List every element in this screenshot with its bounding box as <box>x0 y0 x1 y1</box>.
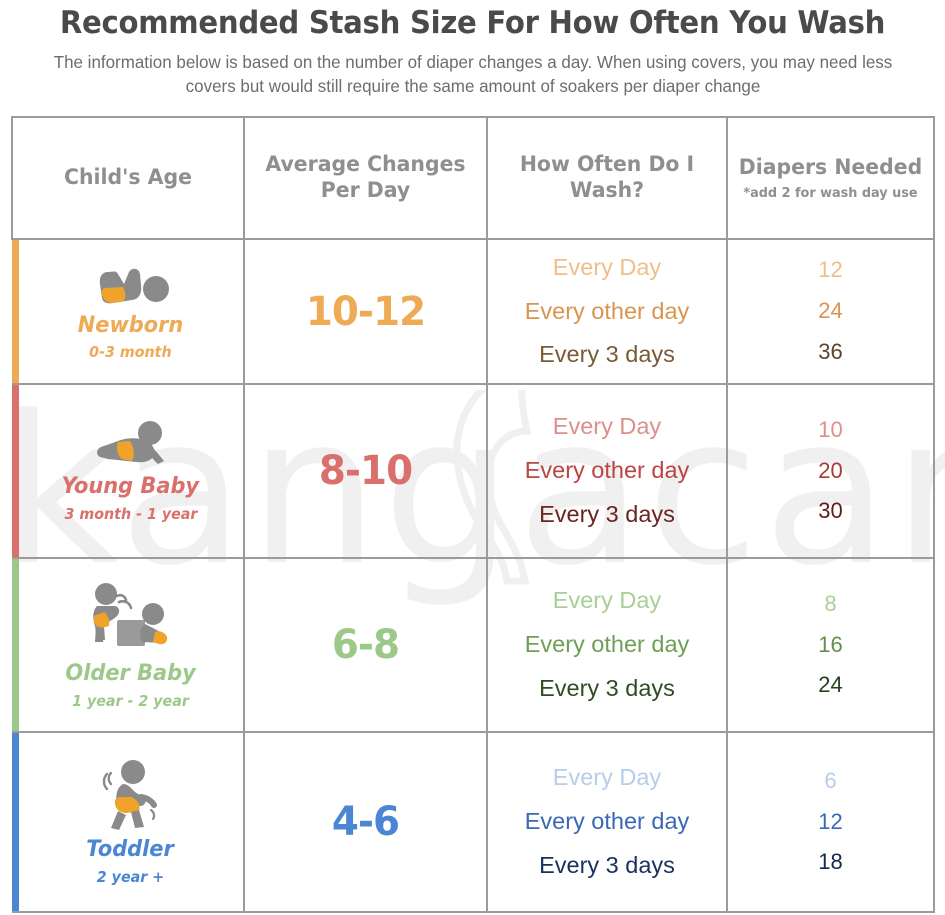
page-subtitle: The information below is based on the nu… <box>36 50 909 98</box>
column-header-diapers-needed-label: Diapers Needed <box>739 155 922 180</box>
table-row-toddler: Toddler 2 year + 4-6 Every Day Every oth… <box>12 732 934 912</box>
age-label-toddler: Toddler <box>87 838 174 862</box>
diapers-needed-every-day: 8 <box>728 584 933 625</box>
diapers-needed-every-3-days: 18 <box>728 842 933 883</box>
age-range-older-baby: 1 year - 2 year <box>72 692 189 710</box>
wash-frequency-every-other-day: Every other day <box>488 449 726 493</box>
young-baby-crawling-icon <box>88 419 174 471</box>
table-row-newborn: Newborn 0-3 month 10-12 Every Day Every … <box>12 239 934 384</box>
diapers-needed-every-day: 12 <box>728 250 933 291</box>
accent-bar-young-baby <box>12 385 19 557</box>
age-range-newborn: 0-3 month <box>89 343 171 361</box>
table-body: Newborn 0-3 month 10-12 Every Day Every … <box>12 239 934 912</box>
column-header-changes: Average Changes Per Day <box>250 117 481 239</box>
table-row-young-baby: Young Baby 3 month - 1 year 8-10 Every D… <box>12 384 934 558</box>
wash-frequency-every-day: Every Day <box>488 756 726 800</box>
age-cell-toddler: Toddler 2 year + <box>12 732 244 912</box>
changes-cell-toddler: 4-6 <box>248 732 484 912</box>
age-cell-newborn: Newborn 0-3 month <box>12 239 244 384</box>
diapers-needed-cell-older-baby: 8 16 24 <box>727 558 934 732</box>
diapers-needed-every-other-day: 20 <box>728 451 933 492</box>
diapers-needed-every-3-days: 36 <box>728 332 933 373</box>
wash-frequency-cell-toddler: Every Day Every other day Every 3 days <box>487 732 727 912</box>
changes-cell-young-baby: 8-10 <box>248 384 484 558</box>
age-label-young-baby: Young Baby <box>62 475 199 499</box>
age-cell-older-baby: Older Baby 1 year - 2 year <box>12 558 244 732</box>
wash-frequency-cell-newborn: Every Day Every other day Every 3 days <box>487 239 727 384</box>
age-label-newborn: Newborn <box>78 314 183 338</box>
table-row-older-baby: Older Baby 1 year - 2 year 6-8 Every Day… <box>12 558 934 732</box>
diapers-needed-every-day: 10 <box>728 410 933 451</box>
infographic-root: Recommended Stash Size For How Often You… <box>0 0 945 915</box>
older-baby-playing-icon <box>83 580 179 658</box>
diapers-needed-every-3-days: 24 <box>728 665 933 706</box>
stash-size-table: Child's Age Average Changes Per Day How … <box>11 116 935 913</box>
page-title: Recommended Stash Size For How Often You… <box>28 6 916 42</box>
diapers-needed-cell-young-baby: 10 20 30 <box>727 384 934 558</box>
age-cell-young-baby: Young Baby 3 month - 1 year <box>12 384 244 558</box>
accent-bar-older-baby <box>12 559 19 731</box>
wash-frequency-every-other-day: Every other day <box>488 800 726 844</box>
column-header-wash-frequency: How Often Do I Wash? <box>493 117 721 239</box>
wash-frequency-cell-young-baby: Every Day Every other day Every 3 days <box>487 384 727 558</box>
stash-size-table-wrapper: Child's Age Average Changes Per Day How … <box>11 116 933 906</box>
diapers-needed-every-other-day: 24 <box>728 291 933 332</box>
wash-frequency-every-day: Every Day <box>488 246 726 289</box>
age-range-young-baby: 3 month - 1 year <box>64 505 197 523</box>
accent-bar-newborn <box>12 240 19 383</box>
wash-frequency-every-3-days: Every 3 days <box>488 667 726 711</box>
accent-bar-toddler <box>12 733 19 911</box>
wash-frequency-every-3-days: Every 3 days <box>488 333 726 376</box>
wash-frequency-every-other-day: Every other day <box>488 623 726 667</box>
wash-frequency-every-other-day: Every other day <box>488 290 726 333</box>
wash-frequency-every-3-days: Every 3 days <box>488 493 726 537</box>
age-label-older-baby: Older Baby <box>65 662 195 686</box>
column-header-age: Child's Age <box>18 117 238 239</box>
table-header-row: Child's Age Average Changes Per Day How … <box>12 117 934 239</box>
column-header-diapers-needed-note: *add 2 for wash day use <box>733 185 928 201</box>
wash-frequency-cell-older-baby: Every Day Every other day Every 3 days <box>487 558 727 732</box>
diapers-needed-cell-newborn: 12 24 36 <box>727 239 934 384</box>
header: Recommended Stash Size For How Often You… <box>0 0 945 98</box>
wash-frequency-every-day: Every Day <box>488 405 726 449</box>
diapers-needed-every-other-day: 12 <box>728 802 933 843</box>
diapers-needed-every-3-days: 30 <box>728 491 933 532</box>
wash-frequency-every-3-days: Every 3 days <box>488 844 726 888</box>
diapers-needed-every-day: 6 <box>728 761 933 802</box>
changes-cell-older-baby: 6-8 <box>248 558 484 732</box>
newborn-lying-icon <box>88 262 174 310</box>
diapers-needed-cell-toddler: 6 12 18 <box>727 732 934 912</box>
diapers-needed-every-other-day: 16 <box>728 625 933 666</box>
wash-frequency-every-day: Every Day <box>488 579 726 623</box>
column-header-diapers-needed: Diapers Needed *add 2 for wash day use <box>732 117 929 239</box>
changes-cell-newborn: 10-12 <box>248 239 484 384</box>
toddler-walking-icon <box>95 758 167 834</box>
age-range-toddler: 2 year + <box>97 868 164 886</box>
